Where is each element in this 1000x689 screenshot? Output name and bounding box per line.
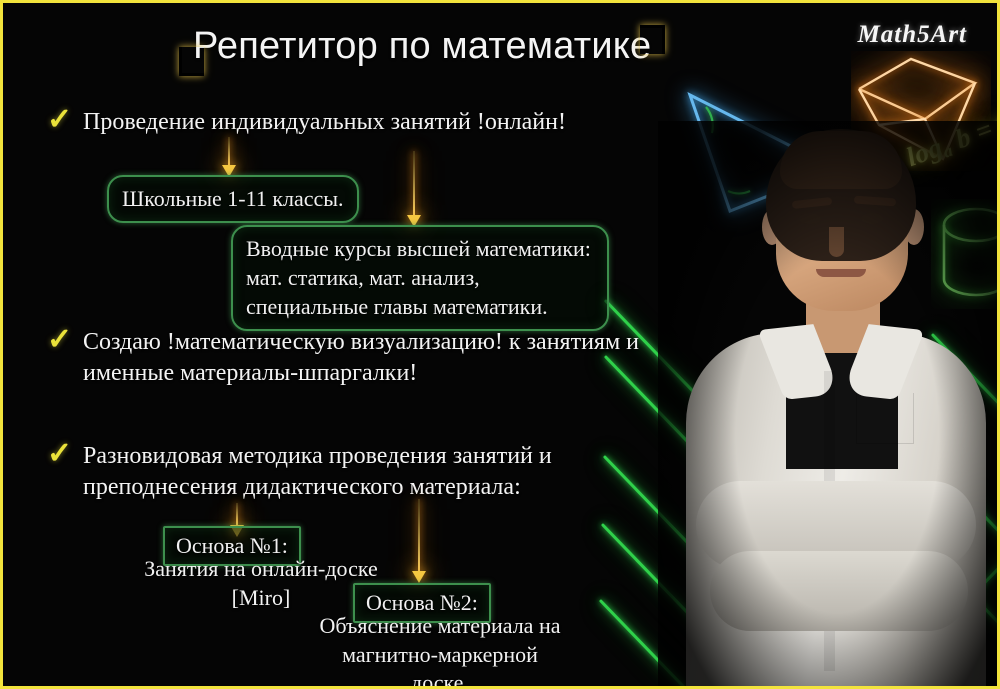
caption-basis-2-line-3: доске. bbox=[275, 669, 605, 689]
bullet-2-text: Создаю !математическую визуализацию! к з… bbox=[83, 329, 639, 386]
checkmark-icon: ✓ bbox=[47, 325, 72, 355]
box-higher-math: Вводные курсы высшей математики: мат. ст… bbox=[231, 225, 609, 331]
arrow-down-icon bbox=[222, 137, 236, 177]
checkmark-icon: ✓ bbox=[47, 439, 72, 469]
box-higher-math-line-2: мат. статика, мат. анализ, bbox=[246, 263, 594, 292]
bullet-1-text: Проведение индивидуальных занятий !онлай… bbox=[83, 109, 566, 135]
page-title: Репетитор по математике bbox=[193, 25, 651, 68]
brand-logo: Math5Art bbox=[858, 21, 967, 49]
bullet-item-3: ✓ Разновидовая методика проведения занят… bbox=[83, 441, 643, 502]
arrow-down-icon bbox=[412, 499, 426, 585]
arrow-down-icon bbox=[407, 151, 421, 229]
poster-canvas: loga b = u Репетитор по математике Math5… bbox=[0, 0, 1000, 689]
title-block: Репетитор по математике bbox=[179, 21, 665, 74]
checkmark-icon: ✓ bbox=[47, 105, 72, 135]
tutor-photo bbox=[658, 121, 1000, 689]
title-bracket-right-icon bbox=[640, 25, 665, 54]
caption-basis-2: Объяснение материала на магнитно-маркерн… bbox=[275, 612, 605, 689]
caption-basis-1-line-1: Занятия на онлайн-доске bbox=[121, 555, 401, 584]
box-school-grades-text: Школьные 1-11 классы. bbox=[122, 186, 344, 211]
title-bracket-left-icon bbox=[179, 47, 204, 76]
box-higher-math-line-1: Вводные курсы высшей математики: bbox=[246, 234, 594, 263]
bullet-item-1: ✓ Проведение индивидуальных занятий !онл… bbox=[83, 107, 643, 138]
photo-vignette bbox=[658, 121, 1000, 689]
bullet-item-2: ✓ Создаю !математическую визуализацию! к… bbox=[83, 327, 643, 388]
box-higher-math-line-3: специальные главы математики. bbox=[246, 292, 594, 321]
caption-basis-2-line-1: Объяснение материала на bbox=[275, 612, 605, 641]
bullet-3-text: Разновидовая методика проведения занятий… bbox=[83, 443, 552, 500]
caption-basis-2-line-2: магнитно-маркерной bbox=[275, 641, 605, 670]
box-school-grades: Школьные 1-11 классы. bbox=[107, 175, 359, 223]
